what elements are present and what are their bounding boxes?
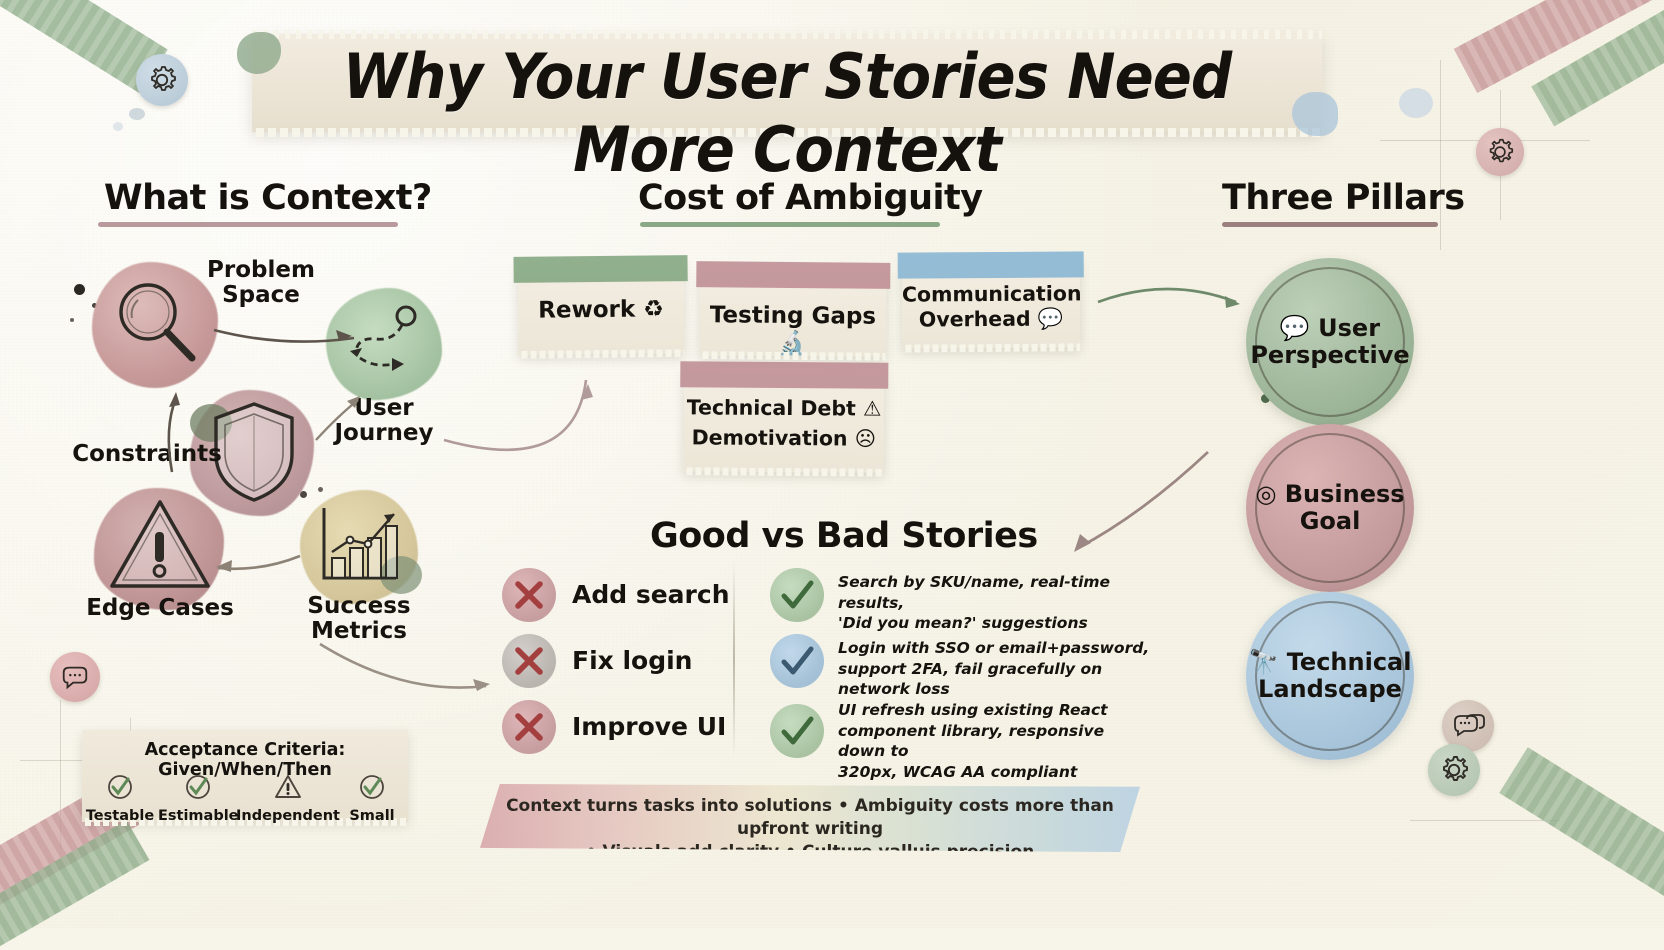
- bad-label-add-search: Add search: [572, 580, 730, 609]
- decor-chip-gear-top-left: [136, 54, 188, 106]
- pillar-technical-landscape: 🔭 Technical Landscape: [1246, 592, 1414, 760]
- good-badge-search: [770, 568, 824, 622]
- gear-icon: [1437, 753, 1471, 787]
- acceptance-label: Testable: [80, 808, 160, 824]
- check-circle-icon: [105, 772, 135, 802]
- acceptance-criteria-card: Acceptance Criteria: Given/When/Then Tes…: [82, 730, 408, 822]
- pillar-label: ◎ Business Goal: [1255, 481, 1404, 535]
- pillar-label: 🔭 Technical Landscape: [1249, 649, 1412, 703]
- decor-chip-speech-bottom-left: [50, 652, 100, 702]
- good-badge-ui-refresh: [770, 704, 824, 758]
- speech-bubble-icon: [59, 661, 91, 693]
- gear-icon: [145, 63, 179, 97]
- good-desc-ui-refresh: UI refresh using existing React componen…: [838, 700, 1138, 782]
- good-desc-search: Search by SKU/name, real-time results, '…: [838, 572, 1138, 634]
- acceptance-item-small: Small: [332, 772, 412, 824]
- good-desc-login: Login with SSO or email+password, suppor…: [838, 638, 1158, 700]
- good-badge-login: [770, 634, 824, 688]
- speech-bubble-icon: [1451, 709, 1485, 743]
- bad-badge-improve-ui: [502, 700, 556, 754]
- acceptance-item-estimable: Estimable: [158, 772, 238, 824]
- check-circle-icon: [183, 772, 213, 802]
- acceptance-item-independent: Independent: [236, 772, 340, 824]
- bad-badge-fix-login: [502, 634, 556, 688]
- decor-chip-gear-bottom-right: [1428, 744, 1480, 796]
- summary-ribbon: Context turns tasks into solutions • Amb…: [480, 784, 1140, 852]
- acceptance-label: Small: [332, 808, 412, 824]
- acceptance-label: Independent: [236, 808, 340, 824]
- bad-badge-add-search: [502, 568, 556, 622]
- pillar-label: 💬 User Perspective: [1250, 315, 1409, 369]
- good-bad-divider: [733, 560, 735, 758]
- acceptance-label: Estimable: [158, 808, 238, 824]
- warning-triangle-icon: [273, 772, 303, 802]
- check-circle-icon: [357, 772, 387, 802]
- acceptance-item-testable: Testable: [80, 772, 160, 824]
- bad-label-improve-ui: Improve UI: [572, 712, 726, 741]
- pillar-business-goal: ◎ Business Goal: [1246, 424, 1414, 592]
- bad-label-fix-login: Fix login: [572, 646, 692, 675]
- decor-chip-gear-top-right: [1476, 128, 1524, 176]
- gear-icon: [1484, 136, 1516, 168]
- pillar-user-perspective: 💬 User Perspective: [1246, 258, 1414, 426]
